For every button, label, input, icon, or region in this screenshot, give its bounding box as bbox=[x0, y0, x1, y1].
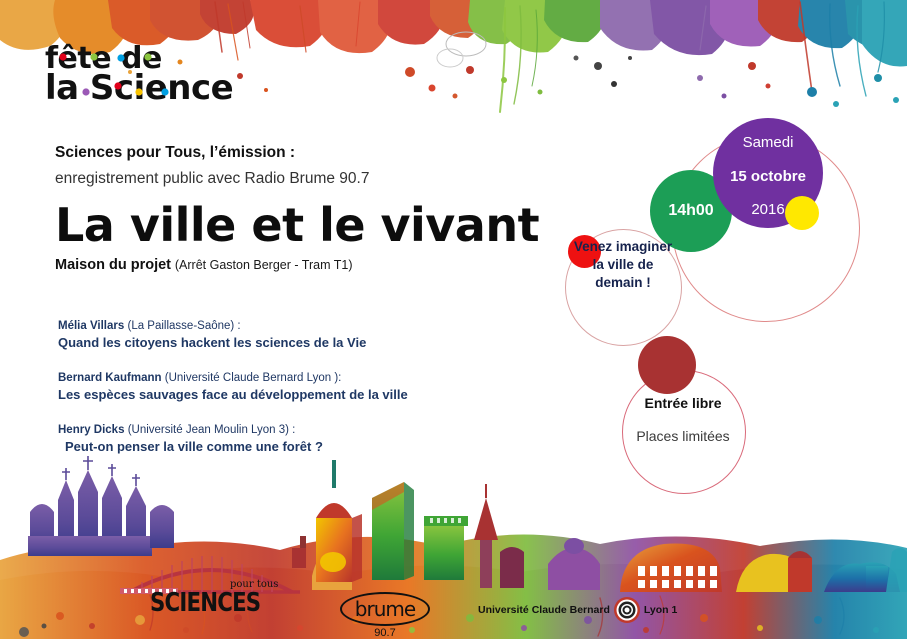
venue-name: Maison du projet bbox=[55, 257, 171, 273]
speaker-talk-title: Les espèces sauvages face au développeme… bbox=[58, 387, 478, 402]
university-name-right: Lyon 1 bbox=[644, 604, 677, 616]
speaker-who: Bernard Kaufmann (Université Claude Bern… bbox=[58, 372, 478, 384]
entry-title: Entrée libre bbox=[622, 395, 744, 411]
speaker-affiliation: (Université Jean Moulin Lyon 3) : bbox=[128, 424, 296, 436]
sciences-pour-tous-logo: SCIENCES pour tous bbox=[150, 588, 285, 618]
list-item: Bernard Kaufmann (Université Claude Bern… bbox=[58, 372, 478, 402]
university-name-left: Université Claude Bernard bbox=[478, 604, 610, 616]
speaker-who: Mélia Villars (La Paillasse-Saône) : bbox=[58, 320, 478, 332]
speaker-who: Henry Dicks (Université Jean Moulin Lyon… bbox=[58, 424, 478, 436]
brume-frequency: 90.7 bbox=[340, 627, 430, 639]
radio-brume-logo: brume 90.7 bbox=[340, 592, 430, 639]
speaker-affiliation: (La Paillasse-Saône) : bbox=[127, 320, 240, 332]
fete-de-la-science-logo: fête de la Science bbox=[45, 45, 233, 104]
brume-wordmark: brume bbox=[355, 597, 415, 621]
venue-line: Maison du projet (Arrêt Gaston Berger - … bbox=[55, 256, 353, 273]
venue-detail: (Arrêt Gaston Berger - Tram T1) bbox=[175, 258, 353, 272]
yellow-dot-circle bbox=[785, 196, 819, 230]
speaker-name: Mélia Villars bbox=[58, 320, 124, 332]
logo-line-2: la Science bbox=[45, 73, 233, 104]
invite-text: Venez imaginer la ville de demain ! bbox=[568, 238, 678, 291]
date-label: 15 octobre bbox=[713, 168, 823, 185]
lyon1-target-icon bbox=[614, 597, 640, 623]
sciences-wordmark: SCIENCES bbox=[150, 588, 260, 618]
city-skyline-watercolor bbox=[0, 440, 907, 639]
day-label: Samedi bbox=[713, 134, 823, 151]
dark-red-dot-circle bbox=[638, 336, 696, 394]
speaker-name: Henry Dicks bbox=[58, 424, 124, 436]
brume-oval: brume bbox=[340, 592, 430, 626]
speaker-name: Bernard Kaufmann bbox=[58, 372, 162, 384]
entry-info: Entrée libre Places limitées bbox=[622, 395, 744, 444]
list-item: Mélia Villars (La Paillasse-Saône) : Qua… bbox=[58, 320, 478, 350]
speaker-talk-title: Quand les citoyens hackent les sciences … bbox=[58, 335, 478, 350]
subtitle-line: enregistrement public avec Radio Brume 9… bbox=[55, 170, 369, 188]
poster-root: fête de la Science Sciences pour Tous, l… bbox=[0, 0, 907, 639]
page-title: La ville et le vivant bbox=[55, 198, 539, 252]
pour-tous-label: pour tous bbox=[230, 579, 278, 590]
program-line: Sciences pour Tous, l’émission : bbox=[55, 144, 295, 162]
speaker-affiliation: (Université Claude Bernard Lyon ): bbox=[165, 372, 342, 384]
universite-lyon1-logo: Université Claude Bernard Lyon 1 bbox=[478, 597, 677, 623]
